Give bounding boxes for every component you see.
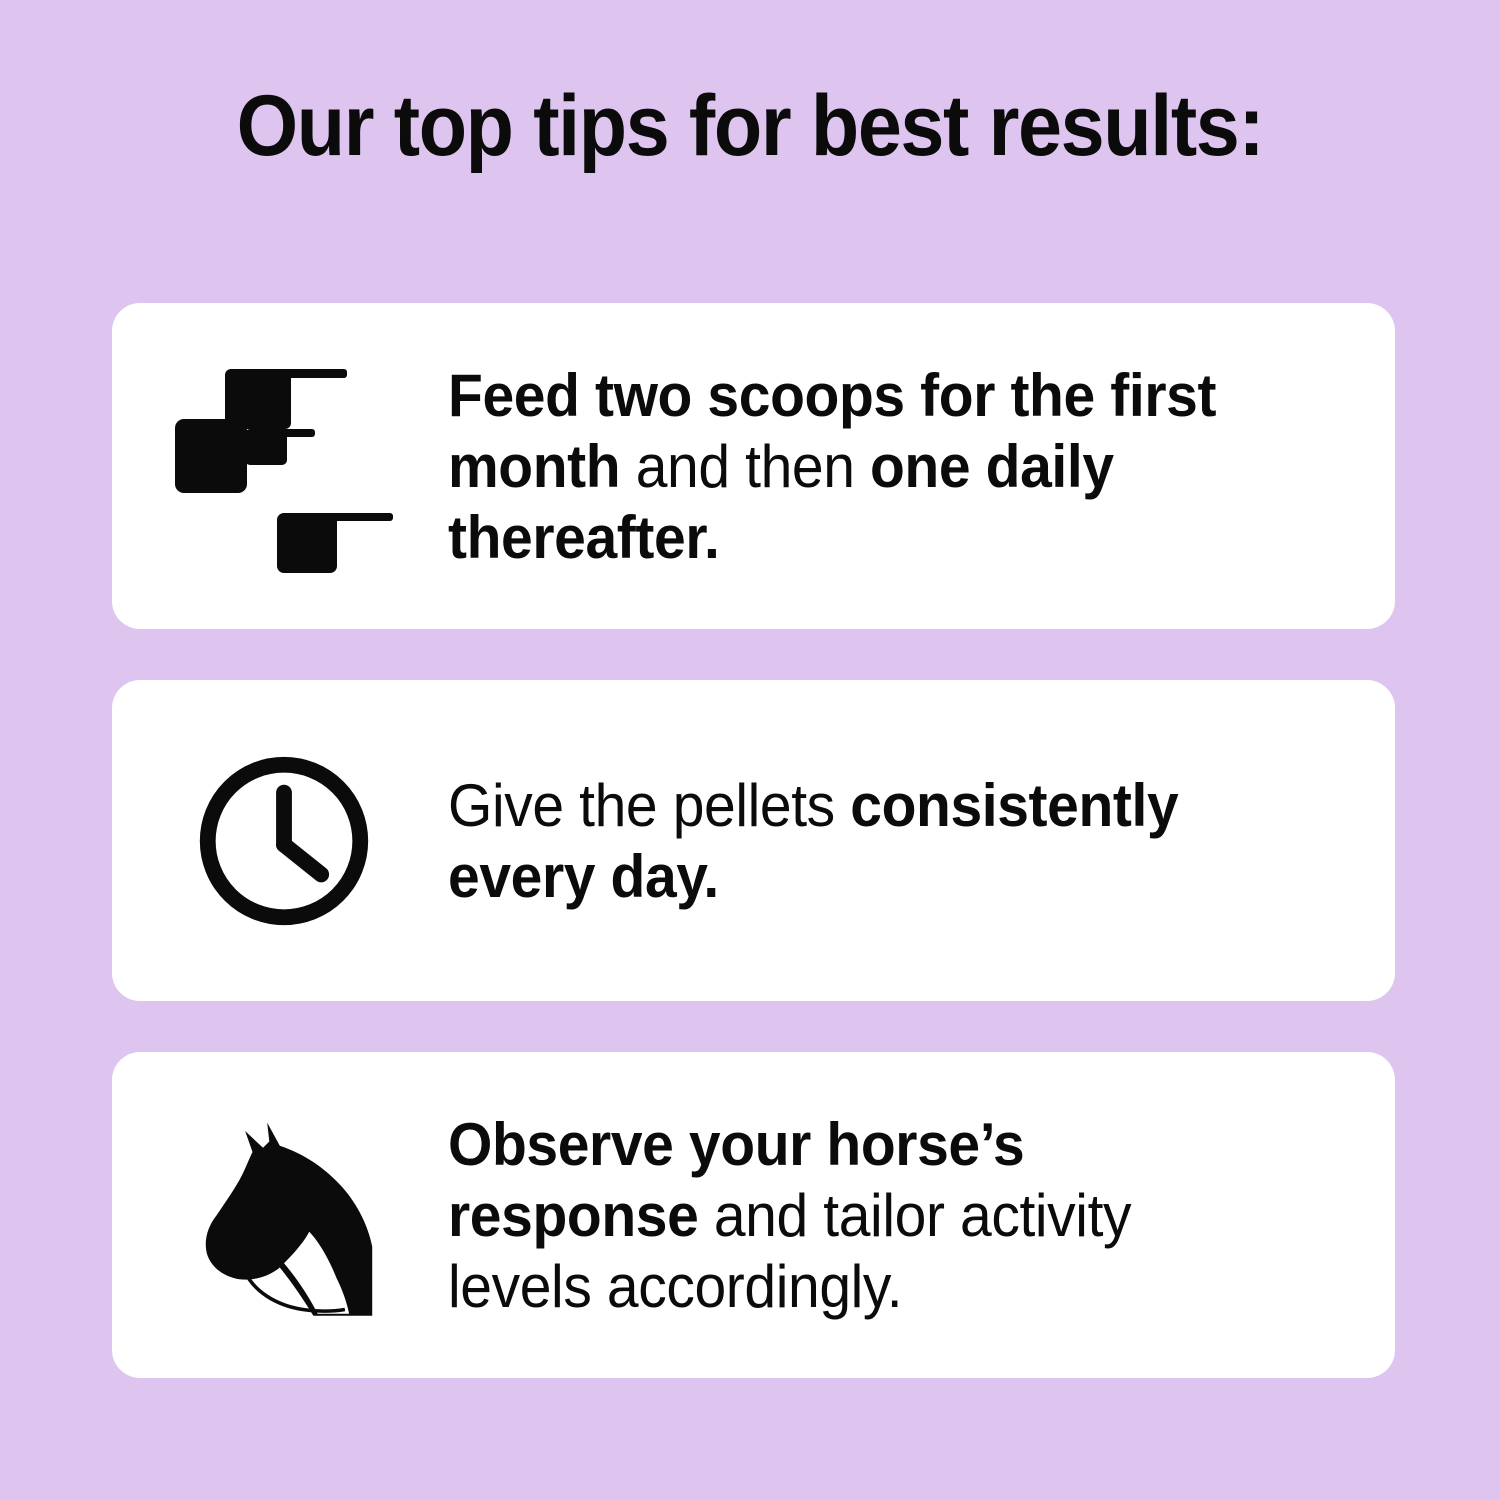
tip-text-segment: Give the pellets xyxy=(448,772,850,839)
horse-head-icon xyxy=(179,1110,389,1320)
tip-card-feeding: Feed two scoops for the first month and … xyxy=(112,303,1395,629)
tip-text-consistency: Give the pellets consistently every day. xyxy=(448,770,1348,912)
tip-text-feeding: Feed two scoops for the first month and … xyxy=(448,360,1348,573)
tip-card-observation: Observe your horse’s response and tailor… xyxy=(112,1052,1395,1378)
infographic-page: Our top tips for best results: Feed two … xyxy=(0,0,1500,1500)
tip-icon-container xyxy=(112,1052,448,1378)
tip-icon-container xyxy=(112,303,448,629)
tip-text-segment: and then xyxy=(620,433,870,500)
tip-icon-container xyxy=(112,680,448,1001)
page-title: Our top tips for best results: xyxy=(60,78,1440,174)
scoops-icon xyxy=(169,351,399,581)
tip-text-observation: Observe your horse’s response and tailor… xyxy=(448,1109,1348,1322)
tip-card-consistency: Give the pellets consistently every day. xyxy=(112,680,1395,1001)
clock-icon xyxy=(191,748,377,934)
